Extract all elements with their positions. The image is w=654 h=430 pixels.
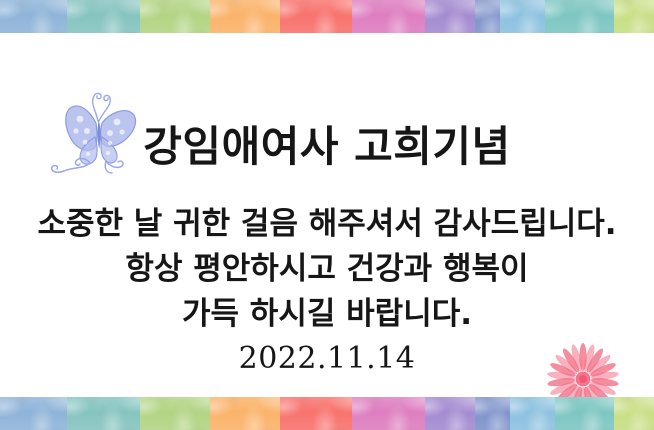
color-band-teal-2 xyxy=(545,0,614,33)
color-band-red xyxy=(280,0,352,33)
color-band-orange xyxy=(210,0,280,33)
color-band-red xyxy=(280,397,352,430)
invitation-card: 강임애여사 고희기념 소중한 날 귀한 걸음 해주셔서 감사드립니다. 항상 평… xyxy=(0,0,654,430)
color-band-indigo xyxy=(475,0,500,33)
color-band-blue xyxy=(0,397,67,430)
color-band-yellow-green xyxy=(614,0,654,33)
color-band-blue xyxy=(0,0,67,33)
color-band-violet xyxy=(425,397,475,430)
color-band-orange xyxy=(210,397,280,430)
color-band-green xyxy=(140,0,210,33)
message-line-1: 소중한 날 귀한 걸음 해주셔서 감사드립니다. xyxy=(0,209,654,240)
color-band-teal xyxy=(67,0,140,33)
message-line-3: 가득 하시길 바랍니다. xyxy=(0,299,654,330)
bottom-border-strip xyxy=(0,397,654,430)
color-band-violet xyxy=(425,0,475,33)
page-title: 강임애여사 고희기념 xyxy=(0,126,654,168)
color-band-pink xyxy=(352,0,425,33)
color-band-yellow-green xyxy=(614,397,654,430)
color-band-teal-2 xyxy=(555,397,614,430)
color-band-pink xyxy=(352,397,425,430)
message-line-2: 항상 평안하시고 건강과 행복이 xyxy=(0,254,654,285)
card-content: 강임애여사 고희기념 소중한 날 귀한 걸음 해주셔서 감사드립니다. 항상 평… xyxy=(0,33,654,397)
color-band-teal xyxy=(67,397,140,430)
color-band-light-blue xyxy=(510,397,555,430)
color-band-light-blue xyxy=(500,0,545,33)
color-band-green xyxy=(140,397,210,430)
top-border-strip xyxy=(0,0,654,33)
color-band-indigo xyxy=(475,397,510,430)
